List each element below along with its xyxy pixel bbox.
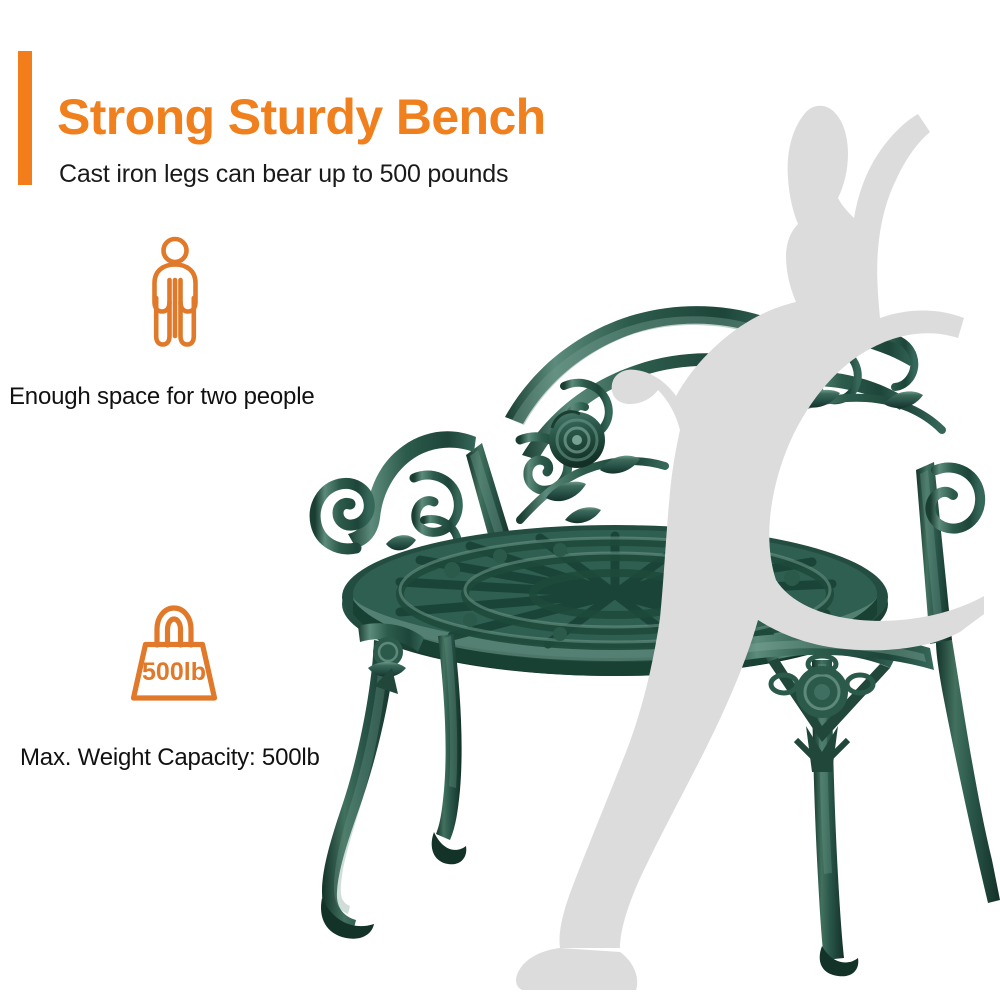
weight-bag-icon: 500lb	[129, 601, 219, 701]
product-image	[0, 0, 1000, 1000]
bench-armrest-left	[315, 431, 476, 573]
bench-seat-right-edge	[718, 633, 934, 670]
bench-seat	[342, 525, 888, 676]
bench-backrest	[466, 306, 980, 644]
page-subtitle: Cast iron legs can bear up to 500 pounds	[59, 162, 508, 187]
bench-back-leg-right	[936, 640, 1000, 903]
product-infographic: Strong Sturdy Bench Cast iron legs can b…	[0, 0, 1000, 1000]
bench-leg-front-left	[321, 623, 424, 938]
feature-caption-capacity: Max. Weight Capacity: 500lb	[20, 746, 320, 770]
rose-motif-left	[549, 412, 605, 468]
person-icon	[146, 236, 204, 348]
seated-person-silhouette	[516, 106, 984, 990]
bench-backrest-right	[690, 324, 980, 644]
feature-caption-space: Enough space for two people	[9, 385, 315, 409]
leg-bracket-right	[760, 637, 898, 772]
bench-leg-middle	[432, 634, 467, 864]
rose-motif-right	[690, 396, 746, 452]
weight-icon-label: 500lb	[142, 658, 206, 686]
accent-bar	[18, 51, 32, 185]
bench-leg-front-right	[760, 637, 898, 976]
page-title: Strong Sturdy Bench	[57, 92, 546, 142]
leg-bracket-left	[358, 623, 424, 694]
